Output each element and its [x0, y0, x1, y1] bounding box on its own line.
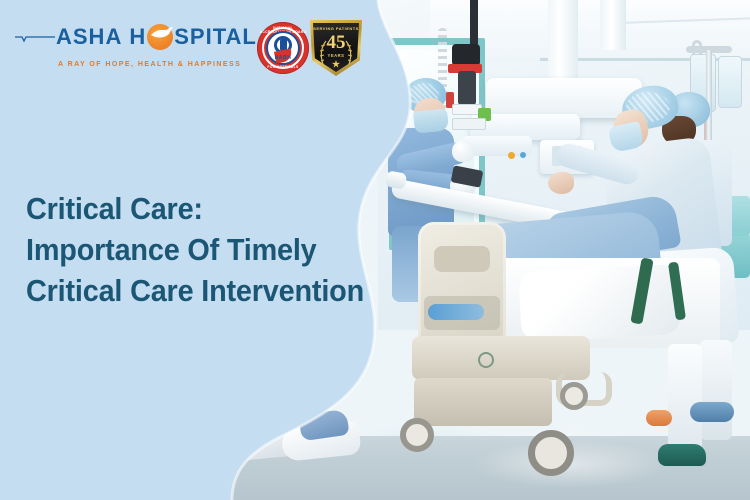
ceiling-pendant-head — [486, 78, 642, 118]
staff-front-hand — [548, 172, 574, 194]
boom-head — [452, 44, 480, 66]
bed-caster-left — [400, 418, 434, 452]
headline-line-2: Importance Of Timely — [26, 229, 361, 270]
bed-caster-rear — [560, 382, 588, 410]
monitor-led-blue — [520, 152, 526, 158]
bed-manufacturer-mark — [478, 352, 494, 368]
boom-body — [458, 71, 476, 105]
nabh-accreditation-badge: NATIONAL ACCREDITATION BOARD NABH FOR HO… — [257, 22, 309, 74]
brand-header: ASHA H SPITAL A RAY OF HOPE, HEALTH & HA… — [0, 0, 380, 92]
gas-valve-lower — [452, 118, 486, 130]
orange-circle-dove-icon — [147, 24, 173, 50]
nabh-label: NABH — [257, 55, 309, 61]
bed-base-lower — [414, 378, 552, 426]
nabh-bottom-text: FOR HOSPITALS — [257, 65, 309, 69]
brand-wordmark: ASHA H SPITAL — [56, 24, 257, 50]
shield-top-text: SERVING PATIENTS — [310, 26, 362, 31]
orange-floor-object — [646, 410, 672, 426]
brand-tagline: A RAY OF HOPE, HEALTH & HAPPINESS — [58, 61, 241, 68]
headline-line-3: Critical Care Intervention — [26, 270, 361, 311]
staff-legs-left — [668, 344, 702, 456]
monitor-led-amber — [508, 152, 515, 159]
brand-h: H — [129, 24, 146, 50]
laurel-right-icon — [344, 40, 354, 66]
years-of-service-badge: SERVING PATIENTS 45 YEARS — [310, 20, 362, 76]
boom-stem — [470, 0, 478, 48]
shield-star-icon — [332, 60, 340, 68]
bed-sheet — [518, 264, 681, 342]
laurel-left-icon — [318, 40, 328, 66]
page-title: Critical Care: Importance Of Timely Crit… — [26, 188, 361, 311]
brand-asha: ASHA — [56, 24, 122, 50]
bed-control-strip — [428, 304, 484, 320]
ecg-flatline-icon — [14, 29, 56, 45]
bed-caster-front — [528, 430, 574, 476]
headline-line-1: Critical Care: — [26, 188, 361, 229]
ceiling-pendant-column — [548, 0, 578, 82]
staff-shoe-cover-blue — [690, 402, 734, 422]
nurse-left-glove-upper — [452, 140, 474, 162]
staff-clog-green — [658, 444, 706, 466]
staff-legs-right — [700, 340, 732, 440]
bed-headboard-cutout — [434, 246, 490, 272]
ceiling-pendant-column-2 — [600, 0, 626, 50]
blog-banner: ASHA H SPITAL A RAY OF HOPE, HEALTH & HA… — [0, 0, 750, 500]
iv-bag-right — [718, 56, 742, 108]
brand-spital: SPITAL — [174, 24, 257, 50]
